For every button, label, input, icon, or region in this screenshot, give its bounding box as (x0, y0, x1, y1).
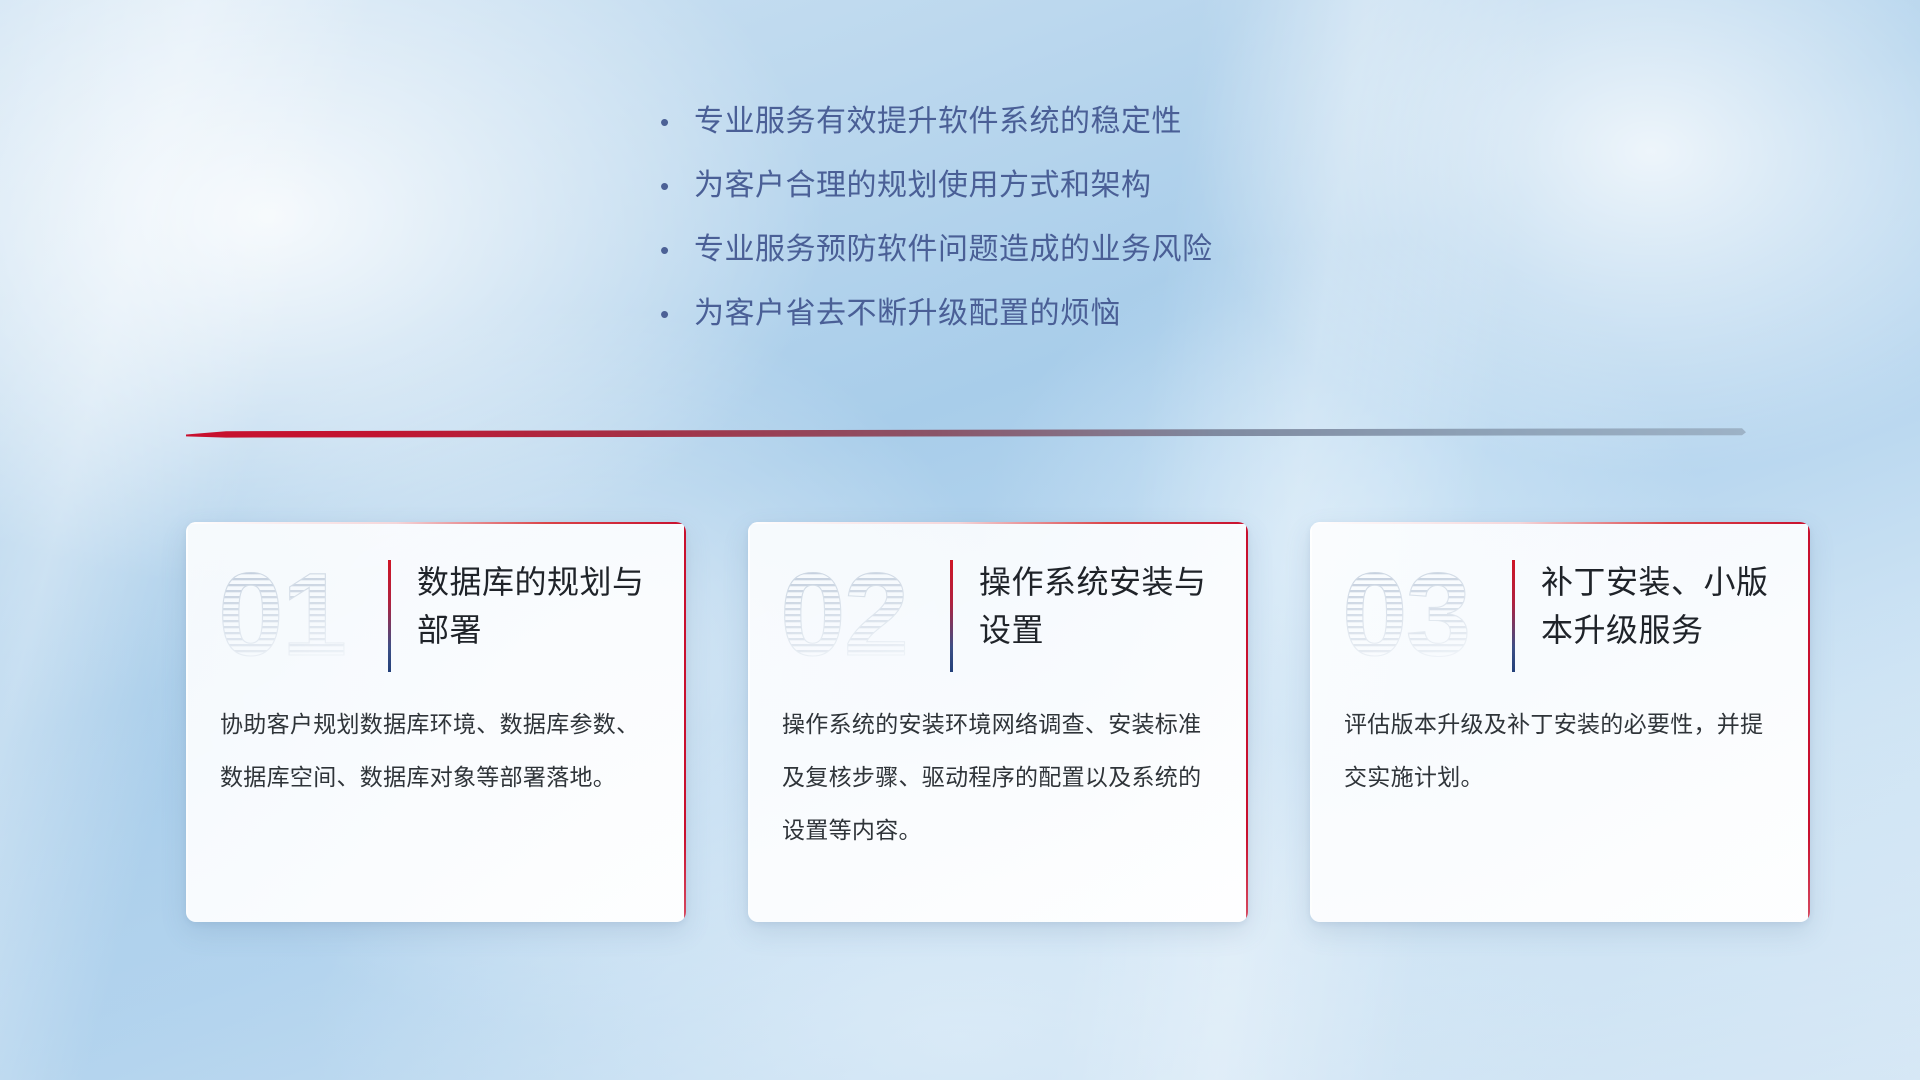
card-header: 01 数据库的规划与部署 (186, 522, 686, 698)
service-card-row: 01 数据库的规划与部署 协助客户规划数据库环境、数据库参数、数据库空间、数据库… (186, 522, 1810, 924)
bullet-text: 为客户合理的规划使用方式和架构 (694, 164, 1152, 208)
card-number-text: 03 (1342, 554, 1469, 674)
card-title-rule (1512, 560, 1515, 672)
card-header: 03 补丁安装、小版本升级服务 (1310, 522, 1810, 698)
card-body-text: 协助客户规划数据库环境、数据库参数、数据库空间、数据库对象等部署落地。 (186, 698, 686, 804)
card-body-text: 操作系统的安装环境网络调查、安装标准及复核步骤、驱动程序的配置以及系统的设置等内… (748, 698, 1248, 857)
list-item: • 专业服务有效提升软件系统的稳定性 (660, 100, 1420, 144)
card-body-text: 评估版本升级及补丁安装的必要性，并提交实施计划。 (1310, 698, 1810, 804)
benefits-bullet-list: • 专业服务有效提升软件系统的稳定性 • 为客户合理的规划使用方式和架构 • 专… (660, 100, 1420, 356)
card-title-rule (950, 560, 953, 672)
list-item: • 为客户合理的规划使用方式和架构 (660, 164, 1420, 208)
card-number-badge: 03 (1340, 554, 1508, 674)
bullet-dot-icon: • (660, 292, 694, 336)
bullet-dot-icon: • (660, 228, 694, 272)
card-title: 数据库的规划与部署 (417, 554, 656, 654)
divider-blade-icon (186, 428, 1746, 442)
service-card[interactable]: 02 操作系统安装与设置 操作系统的安装环境网络调查、安装标准及复核步骤、驱动程… (748, 522, 1248, 922)
bullet-text: 为客户省去不断升级配置的烦恼 (694, 292, 1121, 336)
card-number-badge: 02 (778, 554, 946, 674)
list-item: • 专业服务预防软件问题造成的业务风险 (660, 228, 1420, 272)
card-number-text: 02 (780, 554, 907, 674)
card-number-badge: 01 (216, 554, 384, 674)
bullet-dot-icon: • (660, 164, 694, 208)
striped-number-icon: 01 (216, 554, 384, 674)
bullet-dot-icon: • (660, 100, 694, 144)
list-item: • 为客户省去不断升级配置的烦恼 (660, 292, 1420, 336)
striped-number-icon: 03 (1340, 554, 1508, 674)
slide-canvas: • 专业服务有效提升软件系统的稳定性 • 为客户合理的规划使用方式和架构 • 专… (0, 0, 1920, 1080)
bullet-text: 专业服务有效提升软件系统的稳定性 (694, 100, 1182, 144)
card-number-text: 01 (218, 554, 345, 674)
card-title: 操作系统安装与设置 (979, 554, 1218, 654)
service-card[interactable]: 01 数据库的规划与部署 协助客户规划数据库环境、数据库参数、数据库空间、数据库… (186, 522, 686, 922)
bullet-text: 专业服务预防软件问题造成的业务风险 (694, 228, 1213, 272)
card-title: 补丁安装、小版本升级服务 (1541, 554, 1780, 654)
section-divider (186, 428, 1746, 442)
service-card[interactable]: 03 补丁安装、小版本升级服务 评估版本升级及补丁安装的必要性，并提交实施计划。 (1310, 522, 1810, 922)
card-title-rule (388, 560, 391, 672)
card-header: 02 操作系统安装与设置 (748, 522, 1248, 698)
striped-number-icon: 02 (778, 554, 946, 674)
